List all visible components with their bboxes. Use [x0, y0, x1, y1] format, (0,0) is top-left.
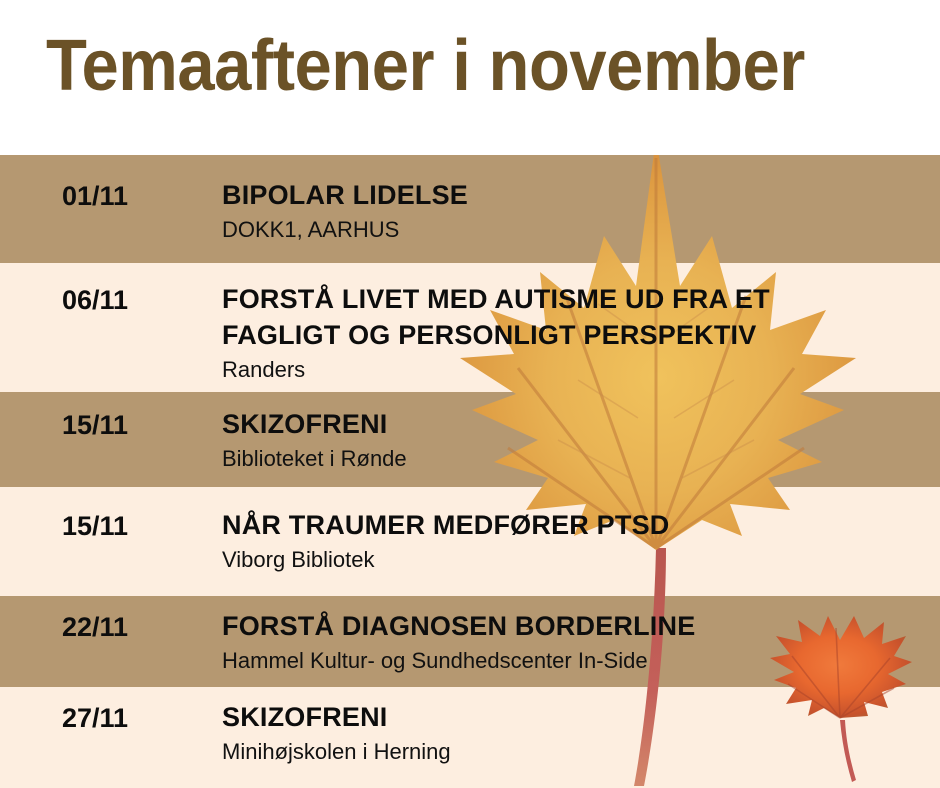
band-row-6 [0, 687, 940, 788]
band-row-2 [0, 263, 940, 392]
band-row-5 [0, 596, 940, 687]
event-poster: Temaaftener i november 01/11 BIPOLAR LID… [0, 0, 940, 788]
band-row-1 [0, 155, 940, 263]
band-row-3 [0, 392, 940, 487]
band-row-4 [0, 487, 940, 596]
page-title: Temaaftener i november [46, 26, 846, 106]
poster-header: Temaaftener i november [0, 0, 940, 155]
